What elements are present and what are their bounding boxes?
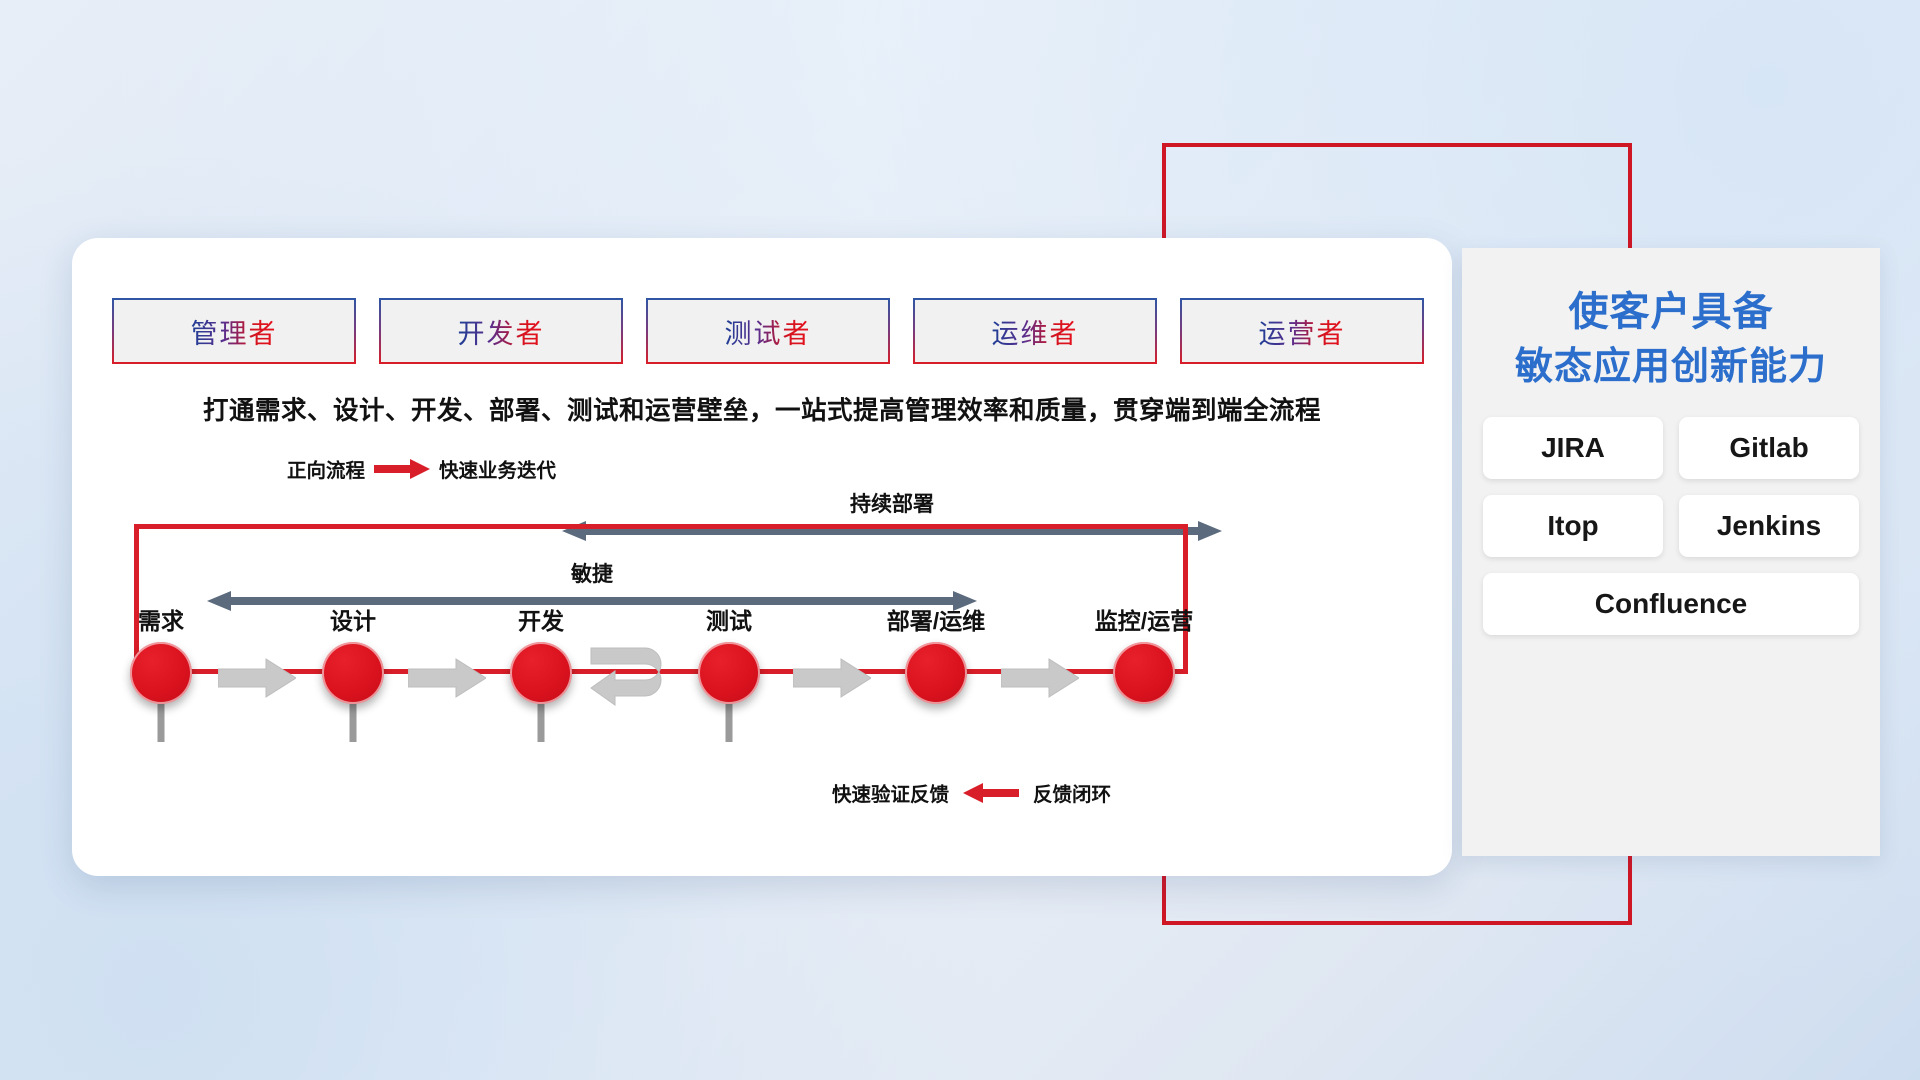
legend-feedback-loop: 快速验证反馈 反馈闭环 [832, 778, 1111, 807]
slide-canvas: 管理者 开发者 测试者 运维者 运营者 打通需求、设计、开发、部署、测试和运营壁… [0, 0, 1920, 1080]
tool-label: Jenkins [1717, 510, 1821, 542]
role-label: 管理者 [191, 312, 278, 351]
description-text: 打通需求、设计、开发、部署、测试和运营壁垒，一站式提高管理效率和质量，贯穿端到端… [72, 390, 1452, 427]
legend-feedback-label: 快速验证反馈 [832, 778, 949, 807]
stage-label: 开发 [518, 602, 564, 636]
role-box-operations-engineer[interactable]: 运维者 [913, 298, 1157, 364]
legend-forward-flow: 正向流程 快速业务迭代 [287, 454, 556, 483]
stage-circle-icon [1113, 642, 1175, 704]
panel-title-line2: 敏态应用创新能力 [1462, 341, 1880, 395]
continuous-deployment-label: 持续部署 [562, 488, 1222, 518]
stage-node-monitor-operate[interactable]: 监控/运营 [1113, 642, 1175, 704]
role-box-row: 管理者 开发者 测试者 运维者 运营者 [112, 298, 1424, 364]
stage-circle-icon [905, 642, 967, 704]
stage-node-design[interactable]: 设计 [322, 642, 384, 704]
stage-label: 部署/运维 [887, 602, 985, 636]
stage-node-deploy-ops[interactable]: 部署/运维 [905, 642, 967, 704]
stage-stem [538, 704, 545, 742]
value-panel: 使客户具备 敏态应用创新能力 JIRA Gitlab Itop Jenkins … [1462, 248, 1880, 856]
arrow-uturn-gray-icon [587, 646, 683, 708]
stage-label: 需求 [138, 602, 184, 636]
stage-label: 设计 [330, 602, 376, 636]
role-label: 测试者 [725, 312, 812, 351]
stage-node-requirements[interactable]: 需求 [130, 642, 192, 704]
role-box-business-operator[interactable]: 运营者 [1180, 298, 1424, 364]
role-label: 开发者 [458, 312, 545, 351]
legend-forward-label: 正向流程 [287, 454, 365, 483]
legend-feedback-source-label: 反馈闭环 [1033, 778, 1111, 807]
stage-circle-icon [130, 642, 192, 704]
tool-list: JIRA Gitlab Itop Jenkins Confluence [1462, 417, 1880, 635]
stage-circle-icon [698, 642, 760, 704]
tool-button-itop[interactable]: Itop [1483, 495, 1663, 557]
stage-stem [726, 704, 733, 742]
tool-label: Itop [1547, 510, 1598, 542]
role-label: 运营者 [1259, 312, 1346, 351]
pipeline-row: 需求 设计 开发 测试 [72, 594, 1452, 724]
arrow-right-gray-icon [218, 658, 296, 698]
panel-title-line1: 使客户具备 [1569, 290, 1774, 334]
stage-circle-icon [510, 642, 572, 704]
stage-label: 测试 [706, 602, 752, 636]
tool-button-confluence[interactable]: Confluence [1483, 573, 1859, 635]
role-box-manager[interactable]: 管理者 [112, 298, 356, 364]
role-label: 运维者 [992, 312, 1079, 351]
arrow-right-red-icon [374, 458, 430, 480]
stage-circle-icon [322, 642, 384, 704]
stage-label: 监控/运营 [1095, 602, 1193, 636]
panel-title: 使客户具备 敏态应用创新能力 [1462, 284, 1880, 395]
arrow-right-gray-icon [408, 658, 486, 698]
stage-node-development[interactable]: 开发 [510, 642, 572, 704]
role-box-tester[interactable]: 测试者 [646, 298, 890, 364]
tool-label: Confluence [1595, 588, 1747, 620]
stage-stem [158, 704, 165, 742]
tool-button-jira[interactable]: JIRA [1483, 417, 1663, 479]
arrow-right-gray-icon [1001, 658, 1079, 698]
tool-button-jenkins[interactable]: Jenkins [1679, 495, 1859, 557]
legend-forward-target-label: 快速业务迭代 [439, 454, 556, 483]
stage-stem [350, 704, 357, 742]
tool-label: JIRA [1541, 432, 1605, 464]
main-card: 管理者 开发者 测试者 运维者 运营者 打通需求、设计、开发、部署、测试和运营壁… [72, 238, 1452, 876]
arrow-left-red-icon [963, 782, 1019, 804]
tool-label: Gitlab [1729, 432, 1808, 464]
role-box-developer[interactable]: 开发者 [379, 298, 623, 364]
tool-button-gitlab[interactable]: Gitlab [1679, 417, 1859, 479]
arrow-right-gray-icon [793, 658, 871, 698]
stage-node-testing[interactable]: 测试 [698, 642, 760, 704]
